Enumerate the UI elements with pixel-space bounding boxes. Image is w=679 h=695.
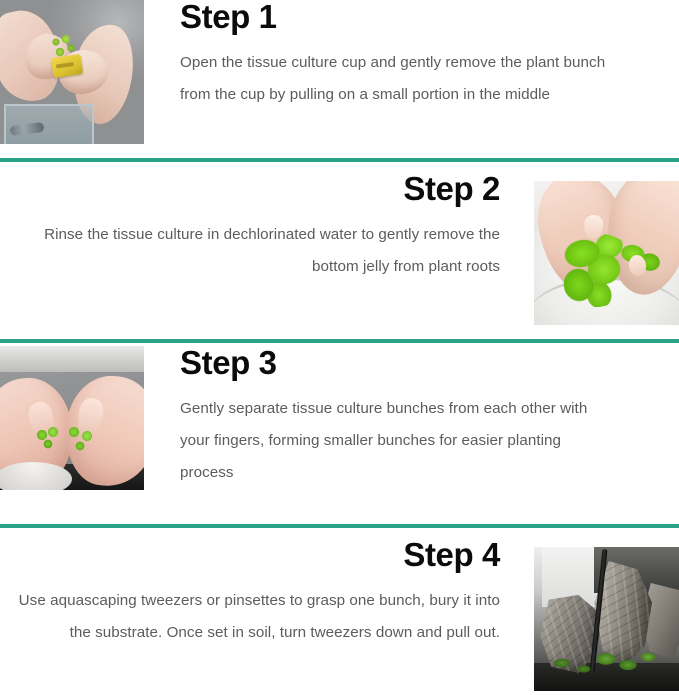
plant-bunch-left — [34, 426, 64, 452]
aquarium-tank — [4, 104, 94, 144]
step-3-text-column: Step 3 Gently separate tissue culture bu… — [144, 343, 679, 489]
plant-bunch-right — [66, 424, 100, 454]
step-section-2: Step 2 Rinse the tissue culture in dechl… — [0, 162, 679, 339]
step-2-title: Step 2 — [0, 172, 500, 205]
step-1-text-column: Step 1 Open the tissue culture cup and g… — [144, 0, 679, 111]
step-3-photo — [0, 346, 144, 490]
photo-background — [0, 346, 144, 372]
step-section-4: Step 4 Use aquascaping tweezers or pinse… — [0, 528, 679, 695]
step-section-3: Step 3 Gently separate tissue culture bu… — [0, 343, 679, 524]
step-4-photo — [534, 547, 679, 691]
planted-greenery — [544, 645, 674, 675]
step-1-title: Step 1 — [180, 0, 615, 33]
step-3-title: Step 3 — [180, 343, 617, 379]
instructional-steps-infographic: Step 1 Open the tissue culture cup and g… — [0, 0, 679, 683]
step-4-text-column: Step 4 Use aquascaping tweezers or pinse… — [0, 528, 534, 649]
step-2-photo — [534, 181, 679, 325]
step-2-text-column: Step 2 Rinse the tissue culture in dechl… — [0, 162, 534, 283]
step-3-body: Gently separate tissue culture bunches f… — [180, 393, 617, 489]
step-2-body: Rinse the tissue culture in dechlorinate… — [0, 219, 500, 283]
step-4-body: Use aquascaping tweezers or pinsettes to… — [0, 585, 500, 649]
step-1-photo — [0, 0, 144, 144]
step-1-body: Open the tissue culture cup and gently r… — [180, 47, 615, 111]
plant-bunch — [50, 34, 77, 60]
step-section-1: Step 1 Open the tissue culture cup and g… — [0, 0, 679, 158]
step-4-title: Step 4 — [0, 538, 500, 571]
